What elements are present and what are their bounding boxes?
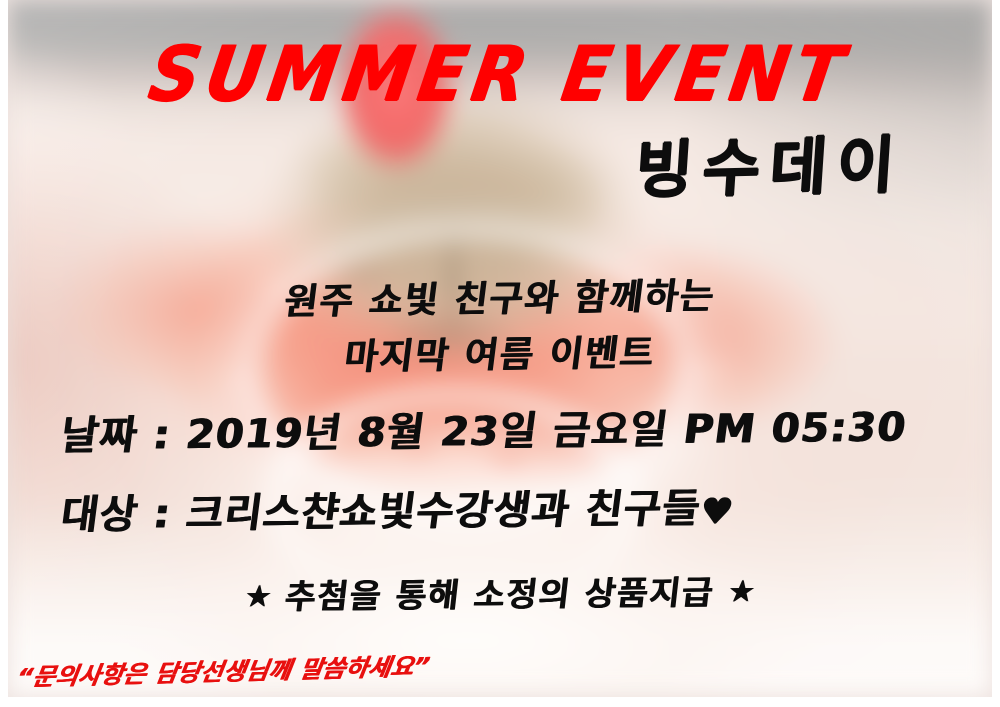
poster-subheadline: 빙수데이 bbox=[634, 134, 907, 202]
star-icon-right: ★ bbox=[726, 574, 757, 609]
poster-prize-text: 추첨을 통해 소정의 상품지급 bbox=[283, 573, 717, 616]
poster-prize-row: ★ 추첨을 통해 소정의 상품지급 ★ bbox=[0, 573, 1000, 616]
poster-footnote: “문의사항은 담당선생님께 말씀하세요” bbox=[15, 654, 431, 689]
poster-intro-line-1: 원주 쇼빛 친구와 함께하는 bbox=[0, 275, 1000, 325]
summer-event-poster: SUMMER EVENT 빙수데이 원주 쇼빛 친구와 함께하는 마지막 여름 … bbox=[0, 0, 1000, 707]
poster-date-row: 날짜 : 2019년 8월 23일 금요일 PM 05:30 bbox=[59, 408, 910, 457]
heart-icon: ♥ bbox=[698, 491, 736, 532]
poster-audience-text: 대상 : 크리스챤쇼빛수강생과 친구들 bbox=[59, 486, 704, 539]
poster-headline: SUMMER EVENT bbox=[0, 36, 1000, 112]
poster-text-layer: SUMMER EVENT 빙수데이 원주 쇼빛 친구와 함께하는 마지막 여름 … bbox=[0, 0, 1000, 707]
star-icon-left: ★ bbox=[243, 579, 274, 614]
poster-audience-row: 대상 : 크리스챤쇼빛수강생과 친구들♥ bbox=[59, 488, 736, 537]
poster-intro-line-2: 마지막 여름 이벤트 bbox=[0, 331, 1000, 381]
